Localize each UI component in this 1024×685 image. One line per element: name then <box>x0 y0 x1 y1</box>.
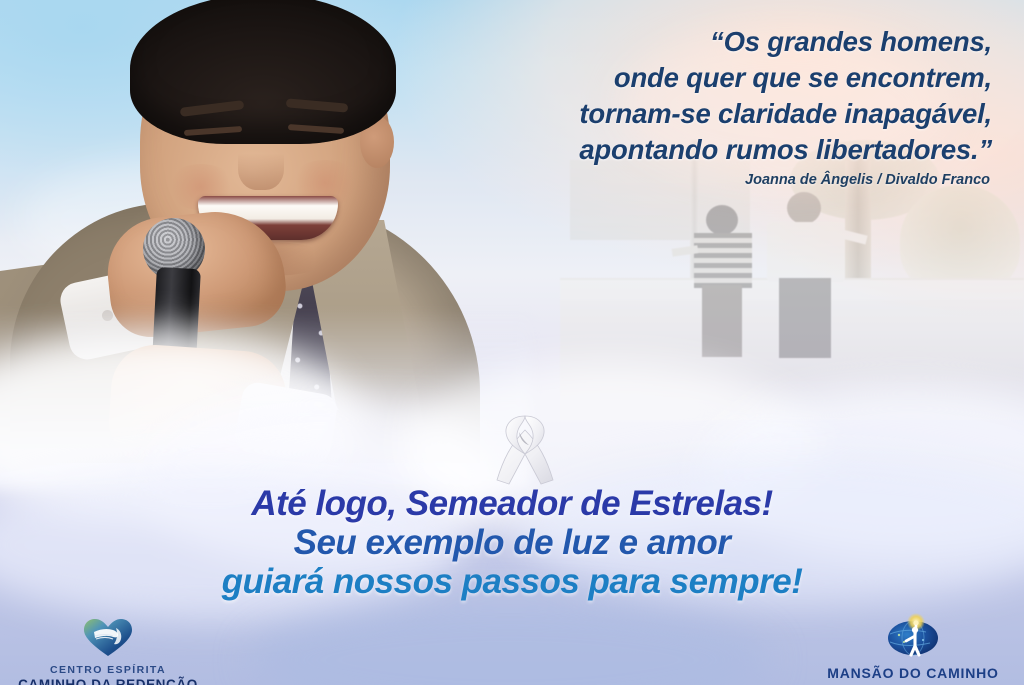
headline-line-3: guiará nossos passos para sempre! <box>0 562 1024 601</box>
headline-line-1: Até logo, Semeador de Estrelas! <box>0 484 1024 523</box>
quote-line-4: apontando rumos libertadores.” <box>372 132 992 168</box>
background-person-adult <box>765 192 850 357</box>
hair <box>130 0 396 144</box>
quote-line-3: tornam-se claridade inapagável, <box>372 96 992 132</box>
quote-attribution: Joanna de Ângelis / Divaldo Franco <box>370 172 990 188</box>
logo-mansao-do-caminho: MANSÃO DO CAMINHO <box>808 612 1018 681</box>
logo-left-line-1: CENTRO ESPÍRITA <box>8 664 208 676</box>
adult-legs <box>779 278 831 358</box>
white-awareness-ribbon-icon <box>489 410 561 488</box>
logo-left-line-2: CAMINHO DA REDENÇÃO <box>8 677 208 685</box>
headline: Até logo, Semeador de Estrelas! Seu exem… <box>0 484 1024 601</box>
adult-shirt <box>767 222 845 282</box>
child-striped-shirt <box>694 233 752 288</box>
background-person-child <box>688 205 758 355</box>
heart-with-hands-logo-icon <box>8 618 208 663</box>
adult-head <box>787 192 821 224</box>
logo-right-line-1: MANSÃO DO CAMINHO <box>808 665 1018 681</box>
memorial-poster: “Os grandes homens, onde quer que se enc… <box>0 0 1024 685</box>
quote-line-2: onde quer que se encontrem, <box>372 60 992 96</box>
nose <box>238 138 284 190</box>
logo-centro-espirita: CENTRO ESPÍRITA CAMINHO DA REDENÇÃO <box>8 618 208 685</box>
child-head <box>706 205 738 235</box>
quote-line-1: “Os grandes homens, <box>372 24 992 60</box>
headline-line-2: Seu exemplo de luz e amor <box>0 523 1024 562</box>
child-legs <box>702 285 742 357</box>
quote-text: “Os grandes homens, onde quer que se enc… <box>372 24 992 168</box>
globe-with-figure-logo-icon <box>808 612 1018 663</box>
